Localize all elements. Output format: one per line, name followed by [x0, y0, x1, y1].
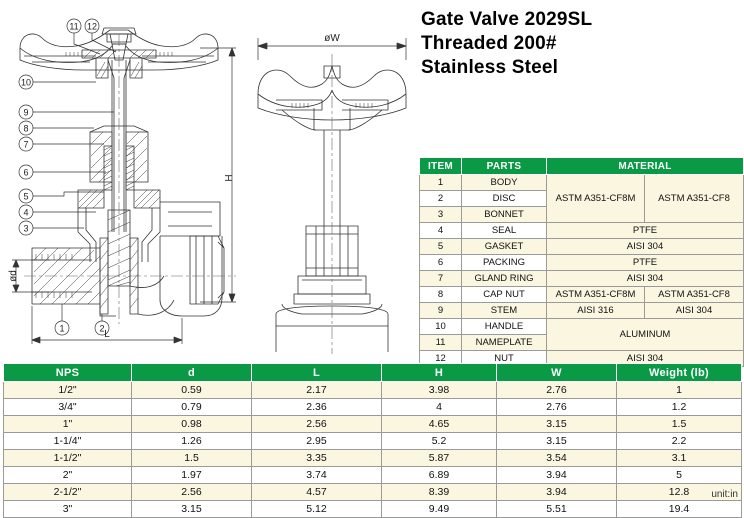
material-value: ASTM A351-CF8 [645, 175, 744, 223]
material-part: DISC [462, 191, 547, 207]
title-line-2: Threaded 200# [421, 32, 741, 56]
title-line-3: Stainless Steel [421, 56, 741, 80]
dimension-nps: 2-1/2" [4, 484, 132, 501]
table-row: 1-1/2" 1.5 3.35 5.87 3.54 3.1 [4, 450, 742, 467]
dimension-weight: 5 [617, 467, 742, 484]
dimension-label-w: øW [324, 33, 340, 44]
material-table-header-row: ITEM PARTS MATERIAL [420, 158, 744, 175]
material-part: STEM [462, 303, 547, 319]
material-value: ASTM A351-CF8 [645, 287, 744, 303]
dimension-nps: 3/4" [4, 399, 132, 416]
dimension-w: 2.76 [497, 399, 617, 416]
dimension-w: 3.15 [497, 433, 617, 450]
dimension-d: 3.15 [132, 501, 252, 518]
material-part: GLAND RING [462, 271, 547, 287]
dimension-weight: 3.1 [617, 450, 742, 467]
material-item: 1 [420, 175, 462, 191]
dimension-header-l: L [252, 364, 382, 382]
dimension-w: 3.54 [497, 450, 617, 467]
dimension-nps: 1-1/2" [4, 450, 132, 467]
table-row: 6 PACKING PTFE [420, 255, 744, 271]
svg-text:11: 11 [69, 22, 78, 32]
material-header-parts: PARTS [462, 158, 547, 175]
svg-text:8: 8 [23, 124, 28, 134]
material-part: BODY [462, 175, 547, 191]
material-value: ASTM A351-CF8M [547, 287, 645, 303]
dimension-w: 2.76 [497, 382, 617, 399]
table-row: 8 CAP NUT ASTM A351-CF8M ASTM A351-CF8 [420, 287, 744, 303]
material-value: AISI 304 [645, 303, 744, 319]
page-title: Gate Valve 2029SL Threaded 200# Stainles… [421, 8, 741, 80]
dimension-d: 1.26 [132, 433, 252, 450]
dimension-header-nps: NPS [4, 364, 132, 382]
table-row: 3" 3.15 5.12 9.49 5.51 19.4 [4, 501, 742, 518]
dimension-d: 1.97 [132, 467, 252, 484]
dimension-d: 2.56 [132, 484, 252, 501]
title-line-1: Gate Valve 2029SL [421, 8, 741, 32]
svg-text:9: 9 [23, 108, 28, 118]
dimension-nps: 2" [4, 467, 132, 484]
material-value: AISI 316 [547, 303, 645, 319]
dimension-d: 1.5 [132, 450, 252, 467]
dimension-label-l: L [104, 329, 110, 340]
dimension-weight: 1 [617, 382, 742, 399]
valve-front-view-drawing: øW [246, 4, 418, 354]
unit-note: unit:in [711, 489, 738, 500]
dimension-header-h: H [382, 364, 497, 382]
svg-text:3: 3 [23, 224, 28, 234]
dimension-label-h: H [224, 174, 235, 181]
material-value: ALUMINUM [547, 319, 744, 351]
svg-text:6: 6 [23, 168, 28, 178]
svg-text:12: 12 [87, 22, 97, 32]
dimension-nps: 3" [4, 501, 132, 518]
material-value: ASTM A351-CF8M [547, 175, 645, 223]
dimension-table: NPS d L H W Weight (lb) 1/2" 0.59 2.17 3… [3, 363, 741, 518]
dimension-d: 0.59 [132, 382, 252, 399]
dimension-header-w: W [497, 364, 617, 382]
material-item: 10 [420, 319, 462, 335]
dimension-l: 2.95 [252, 433, 382, 450]
dimension-weight: 2.2 [617, 433, 742, 450]
dimension-l: 3.35 [252, 450, 382, 467]
table-row: 4 SEAL PTFE [420, 223, 744, 239]
table-row: 2-1/2" 2.56 4.57 8.39 3.94 12.8 [4, 484, 742, 501]
material-item: 5 [420, 239, 462, 255]
material-value: AISI 304 [547, 239, 744, 255]
dimension-h: 9.49 [382, 501, 497, 518]
dimension-h: 6.89 [382, 467, 497, 484]
dimension-h: 4.65 [382, 416, 497, 433]
material-item: 7 [420, 271, 462, 287]
dimension-table-header-row: NPS d L H W Weight (lb) [4, 364, 742, 382]
dimension-h: 5.87 [382, 450, 497, 467]
material-item: 3 [420, 207, 462, 223]
dimension-h: 4 [382, 399, 497, 416]
dimension-h: 8.39 [382, 484, 497, 501]
dimension-weight: 19.4 [617, 501, 742, 518]
table-row: 1-1/4" 1.26 2.95 5.2 3.15 2.2 [4, 433, 742, 450]
material-item: 11 [420, 335, 462, 351]
svg-text:5: 5 [23, 192, 28, 202]
table-row: 1" 0.98 2.56 4.65 3.15 1.5 [4, 416, 742, 433]
dimension-header-weight: Weight (lb) [617, 364, 742, 382]
dimension-weight: 1.5 [617, 416, 742, 433]
material-part: HANDLE [462, 319, 547, 335]
svg-text:1: 1 [59, 324, 64, 334]
dimension-w: 3.15 [497, 416, 617, 433]
table-row: 10 HANDLE ALUMINUM [420, 319, 744, 335]
table-row: 5 GASKET AISI 304 [420, 239, 744, 255]
dimension-l: 2.36 [252, 399, 382, 416]
table-row: 2" 1.97 3.74 6.89 3.94 5 [4, 467, 742, 484]
material-item: 8 [420, 287, 462, 303]
dimension-nps: 1-1/4" [4, 433, 132, 450]
material-item: 2 [420, 191, 462, 207]
material-item: 9 [420, 303, 462, 319]
svg-text:4: 4 [23, 208, 28, 218]
table-row: 7 GLAND RING AISI 304 [420, 271, 744, 287]
svg-text:7: 7 [23, 140, 28, 150]
dimension-weight: 1.2 [617, 399, 742, 416]
dimension-nps: 1" [4, 416, 132, 433]
material-part: BONNET [462, 207, 547, 223]
dimension-l: 5.12 [252, 501, 382, 518]
dimension-label-bore: ød [8, 270, 19, 282]
material-item: 6 [420, 255, 462, 271]
svg-text:10: 10 [21, 78, 31, 88]
dimension-h: 5.2 [382, 433, 497, 450]
material-part: PACKING [462, 255, 547, 271]
material-part: NAMEPLATE [462, 335, 547, 351]
datasheet-page: Gate Valve 2029SL Threaded 200# Stainles… [0, 0, 744, 510]
material-item: 4 [420, 223, 462, 239]
dimension-w: 3.94 [497, 484, 617, 501]
material-part: SEAL [462, 223, 547, 239]
dimension-h: 3.98 [382, 382, 497, 399]
dimension-w: 3.94 [497, 467, 617, 484]
dimension-l: 2.56 [252, 416, 382, 433]
table-row: 1 BODY ASTM A351-CF8M ASTM A351-CF8 [420, 175, 744, 191]
table-row: 9 STEM AISI 316 AISI 304 [420, 303, 744, 319]
table-row: 1/2" 0.59 2.17 3.98 2.76 1 [4, 382, 742, 399]
dimension-d: 0.98 [132, 416, 252, 433]
material-header-material: MATERIAL [547, 158, 744, 175]
dimension-l: 4.57 [252, 484, 382, 501]
valve-cross-section-drawing: 11 12 10 9 8 7 6 5 4 3 1 2 [4, 4, 244, 354]
material-value: AISI 304 [547, 271, 744, 287]
dimension-nps: 1/2" [4, 382, 132, 399]
dimension-l: 3.74 [252, 467, 382, 484]
material-value: PTFE [547, 255, 744, 271]
material-value: PTFE [547, 223, 744, 239]
material-table: ITEM PARTS MATERIAL 1 BODY ASTM A351-CF8… [419, 157, 743, 367]
dimension-l: 2.17 [252, 382, 382, 399]
dimension-d: 0.79 [132, 399, 252, 416]
dimension-header-d: d [132, 364, 252, 382]
material-part: CAP NUT [462, 287, 547, 303]
dimension-w: 5.51 [497, 501, 617, 518]
table-row: 3/4" 0.79 2.36 4 2.76 1.2 [4, 399, 742, 416]
material-header-item: ITEM [420, 158, 462, 175]
material-part: GASKET [462, 239, 547, 255]
